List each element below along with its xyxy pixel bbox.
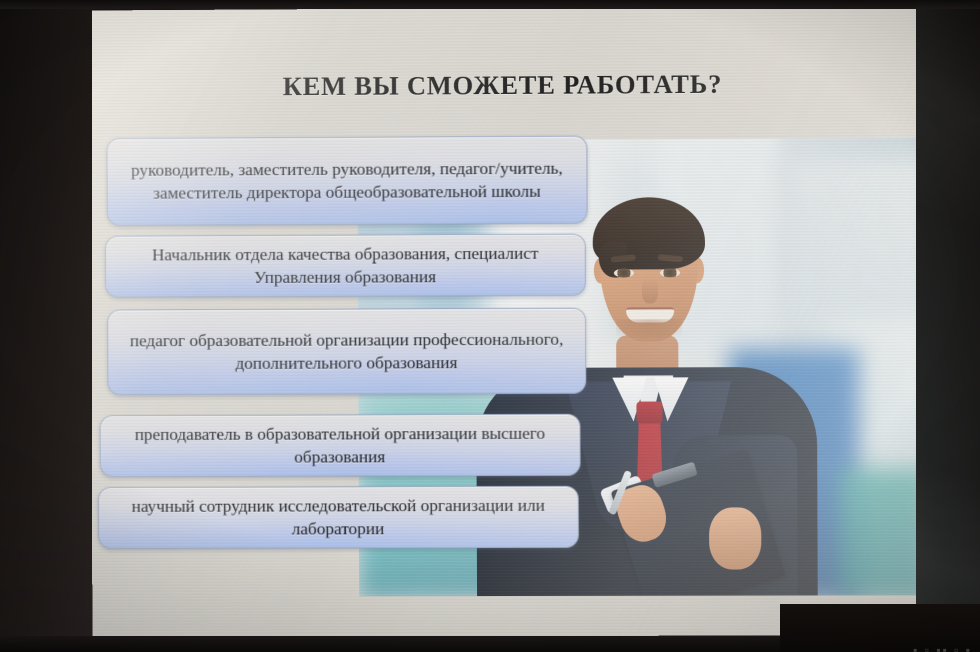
presentation-slide: КЕМ ВЫ СМОЖЕТЕ РАБОТАТЬ? руководитель, з… <box>90 5 918 636</box>
hair <box>593 197 706 270</box>
photographed-screen: КЕМ ВЫ СМОЖЕТЕ РАБОТАТЬ? руководитель, з… <box>0 0 980 652</box>
screen-bezel-left <box>0 0 92 652</box>
eye-left <box>614 268 634 277</box>
nose <box>642 277 658 303</box>
career-option-box-2: Начальник отдела качества образования, с… <box>105 234 586 298</box>
hand-right <box>709 507 761 569</box>
eye-right <box>660 268 680 277</box>
career-option-box-1: руководитель, заместитель руководителя, … <box>106 136 587 226</box>
cut-off-caption-text: ▪ ▫ ▪▪ ▫ ▪ <box>913 643 972 652</box>
chin-shadow <box>616 319 682 337</box>
slide-title: КЕМ ВЫ СМОЖЕТЕ РАБОТАТЬ? <box>90 68 916 104</box>
screen-bezel-top <box>0 0 980 9</box>
career-option-box-5: научный сотрудник исследовательской орга… <box>98 486 579 549</box>
career-option-box-4: преподаватель в образовательной организа… <box>100 414 581 477</box>
background-monitor-shape <box>839 469 918 596</box>
necktie-knot <box>636 401 662 423</box>
bezel-glare <box>916 0 980 652</box>
career-option-box-3: педагог образовательной организации проф… <box>107 308 586 396</box>
